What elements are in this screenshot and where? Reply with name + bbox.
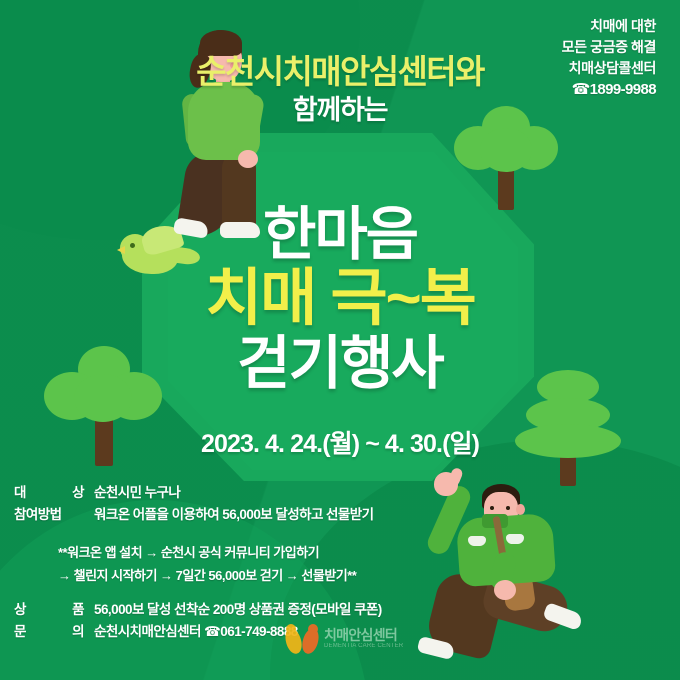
tree-foliage (480, 128, 532, 172)
event-title: 한마음 치매 극~복 걷기행사 (0, 205, 680, 394)
logo-head-yellow (286, 624, 296, 634)
event-date-range: 2023. 4. 24.(월) ~ 4. 30.(일) (0, 424, 680, 460)
call-center-line-1: 치매에 대한 (562, 16, 656, 37)
participation-step-line-1: **워크온 앱 설치 → 순천시 공식 커뮤니티 가입하기 (58, 541, 528, 564)
woman-hand-right (238, 150, 258, 168)
event-title-line-2: 치매 극~복 (0, 267, 680, 331)
detail-label-char: 의 (72, 621, 84, 643)
detail-label-char: 상 (72, 482, 84, 504)
logo-name-en: DEMENTIA CARE CENTER (324, 643, 403, 649)
detail-label-how-to-join: 참여방법 (14, 504, 86, 526)
participation-step-line-2: → 챌린지 시작하기 → 7일간 56,000보 걷기 → 선물받기** (58, 564, 528, 587)
details-list-top: 대 상 순천시민 누구나 참여방법 워크온 어플을 이용하여 56,000보 달… (14, 482, 534, 526)
detail-label-prize: 상 품 (14, 599, 86, 621)
details-list-bottom: 상 품 56,000보 달성 선착순 200명 상품권 증정(모바일 쿠폰) 문… (14, 599, 554, 643)
logo-head-orange (308, 624, 318, 634)
detail-label-inquiry: 문 의 (14, 621, 86, 643)
detail-label-char: 문 (14, 621, 26, 643)
detail-value-how-to-join: 워크온 어플을 이용하여 56,000보 달성하고 선물받기 (86, 504, 534, 526)
detail-row-target: 대 상 순천시민 누구나 (14, 482, 534, 504)
detail-label-char: 품 (72, 599, 84, 621)
detail-row-inquiry: 문 의 순천시치매안심센터 ☎061-749-8888 (14, 621, 554, 643)
poster-canvas: 치매에 대한 모든 궁금증 해결 치매상담콜센터 ☎1899-9988 순천시치… (0, 0, 680, 680)
dementia-care-center-logo: 치매안심센터 DEMENTIA CARE CENTER (286, 624, 403, 654)
detail-row-prize: 상 품 56,000보 달성 선착순 200명 상품권 증정(모바일 쿠폰) (14, 599, 554, 621)
logo-name-kr: 치매안심센터 (324, 628, 403, 643)
detail-label-target: 대 상 (14, 482, 86, 504)
event-title-line-1: 한마음 (0, 205, 680, 265)
detail-value-prize: 56,000보 달성 선착순 200명 상품권 증정(모바일 쿠폰) (86, 599, 554, 621)
detail-label-char: 대 (14, 482, 26, 504)
participation-steps: **워크온 앱 설치 → 순천시 공식 커뮤니티 가입하기 → 챌린지 시작하기… (58, 541, 528, 587)
headline: 순천시치매안심센터와 함께하는 (0, 52, 680, 128)
detail-value-target: 순천시민 누구나 (86, 482, 534, 504)
detail-row-how-to-join: 참여방법 워크온 어플을 이용하여 56,000보 달성하고 선물받기 (14, 504, 534, 526)
headline-line-1: 순천시치매안심센터와 (0, 52, 680, 92)
logo-text: 치매안심센터 DEMENTIA CARE CENTER (324, 628, 403, 649)
event-title-line-3: 걷기행사 (0, 334, 680, 394)
tree-trunk (498, 166, 514, 210)
headline-line-2: 함께하는 (0, 92, 680, 128)
detail-label-char: 상 (14, 599, 26, 621)
logo-heart-people-icon (286, 624, 318, 654)
